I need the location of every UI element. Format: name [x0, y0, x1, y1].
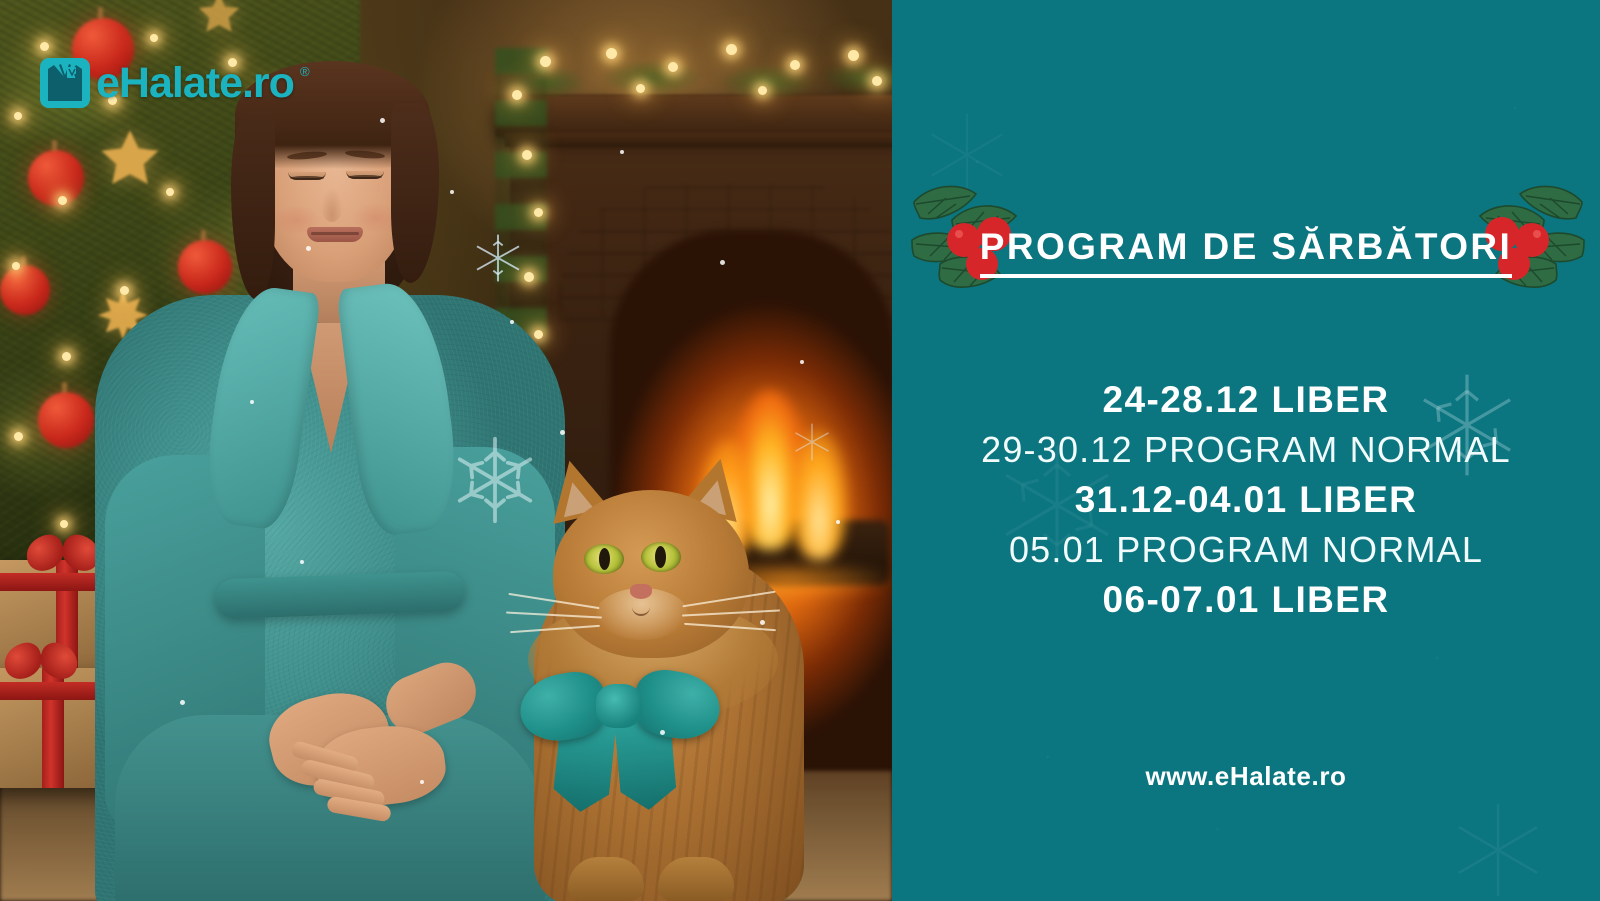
schedule-item: 06-07.01 LIBER — [892, 575, 1600, 625]
cat-paw — [658, 857, 734, 901]
fairy-light — [668, 62, 678, 72]
gift-bow — [26, 536, 100, 578]
fairy-light — [848, 50, 859, 61]
snow-particle — [800, 360, 804, 364]
fairy-light — [636, 84, 645, 93]
gift-bow-loop — [36, 639, 83, 683]
bauble-ornament — [0, 265, 50, 315]
gold-star-ornament — [196, 0, 242, 36]
info-panel: PROGRAM DE SĂRBĂTORI 24-28.12 LIBER 29-3… — [892, 0, 1600, 901]
woman-figure — [95, 55, 565, 901]
fairy-light — [606, 48, 617, 59]
cat-pupil — [655, 546, 666, 568]
snow-particle — [300, 560, 304, 564]
schedule-item: 05.01 PROGRAM NORMAL — [892, 525, 1600, 575]
woman-hair-side — [231, 110, 275, 300]
fairy-light — [872, 76, 882, 86]
schedule-list: 24-28.12 LIBER 29-30.12 PROGRAM NORMAL 3… — [892, 375, 1600, 625]
schedule-item: 29-30.12 PROGRAM NORMAL — [892, 425, 1600, 475]
cat-pupil — [599, 548, 610, 570]
snow-particle — [620, 150, 624, 154]
registered-trademark-icon: ® — [300, 64, 310, 79]
snow-particle — [720, 260, 725, 265]
fairy-light — [62, 352, 71, 361]
snow-particle — [760, 620, 765, 625]
page-title: PROGRAM DE SĂRBĂTORI — [892, 226, 1600, 268]
schedule-item: 31.12-04.01 LIBER — [892, 475, 1600, 525]
snow-particle — [510, 320, 514, 324]
page-title-text: PROGRAM DE SĂRBĂTORI — [980, 226, 1512, 278]
cat-nose — [630, 584, 652, 599]
snow-particle — [836, 520, 840, 524]
snow-particle — [560, 430, 565, 435]
fairy-light — [14, 112, 22, 120]
robe-belt-knot — [285, 563, 347, 625]
schedule-item: 24-28.12 LIBER — [892, 375, 1600, 425]
fairy-light — [58, 196, 67, 205]
cat-paw — [568, 857, 644, 901]
cat-bow-tie — [520, 660, 720, 820]
snow-particle — [450, 190, 454, 194]
snow-particle — [380, 118, 385, 123]
fairy-light — [60, 520, 68, 528]
snow-particle — [250, 400, 254, 404]
fairy-light — [150, 34, 158, 42]
snow-particle — [180, 700, 185, 705]
cat-figure — [498, 432, 828, 901]
medical-coat-stethoscope-icon — [40, 58, 90, 108]
bauble-ornament — [28, 150, 84, 206]
fairy-light — [790, 60, 800, 70]
title-row: PROGRAM DE SĂRBĂTORI — [892, 178, 1600, 306]
woman-hair-side — [391, 103, 439, 283]
fairy-light — [40, 42, 49, 51]
woman-eyelash — [290, 176, 324, 180]
fairy-light — [726, 44, 737, 55]
snowflake-icon — [470, 230, 526, 291]
fairy-light — [758, 86, 767, 95]
website-url[interactable]: www.eHalate.ro — [892, 761, 1600, 792]
snowflake-icon — [1448, 800, 1548, 901]
snow-particle — [660, 730, 665, 735]
fairy-light — [14, 432, 23, 441]
brand-logo-text: eHalate.ro — [96, 62, 294, 105]
woman-smile — [307, 227, 363, 242]
snow-particle — [420, 780, 424, 784]
photo-panel: eHalate.ro ® — [0, 0, 892, 901]
cat-bow-knot — [596, 684, 642, 728]
bauble-ornament — [38, 392, 94, 448]
fairy-light — [12, 262, 20, 270]
snowflake-icon — [790, 420, 834, 469]
woman-nose — [321, 188, 343, 222]
gift-bow — [4, 644, 78, 686]
woman-eyelash — [348, 175, 382, 179]
brand-logo[interactable]: eHalate.ro ® — [40, 58, 310, 108]
snow-particle — [306, 246, 311, 251]
holiday-schedule-banner: eHalate.ro ® — [0, 0, 1600, 901]
